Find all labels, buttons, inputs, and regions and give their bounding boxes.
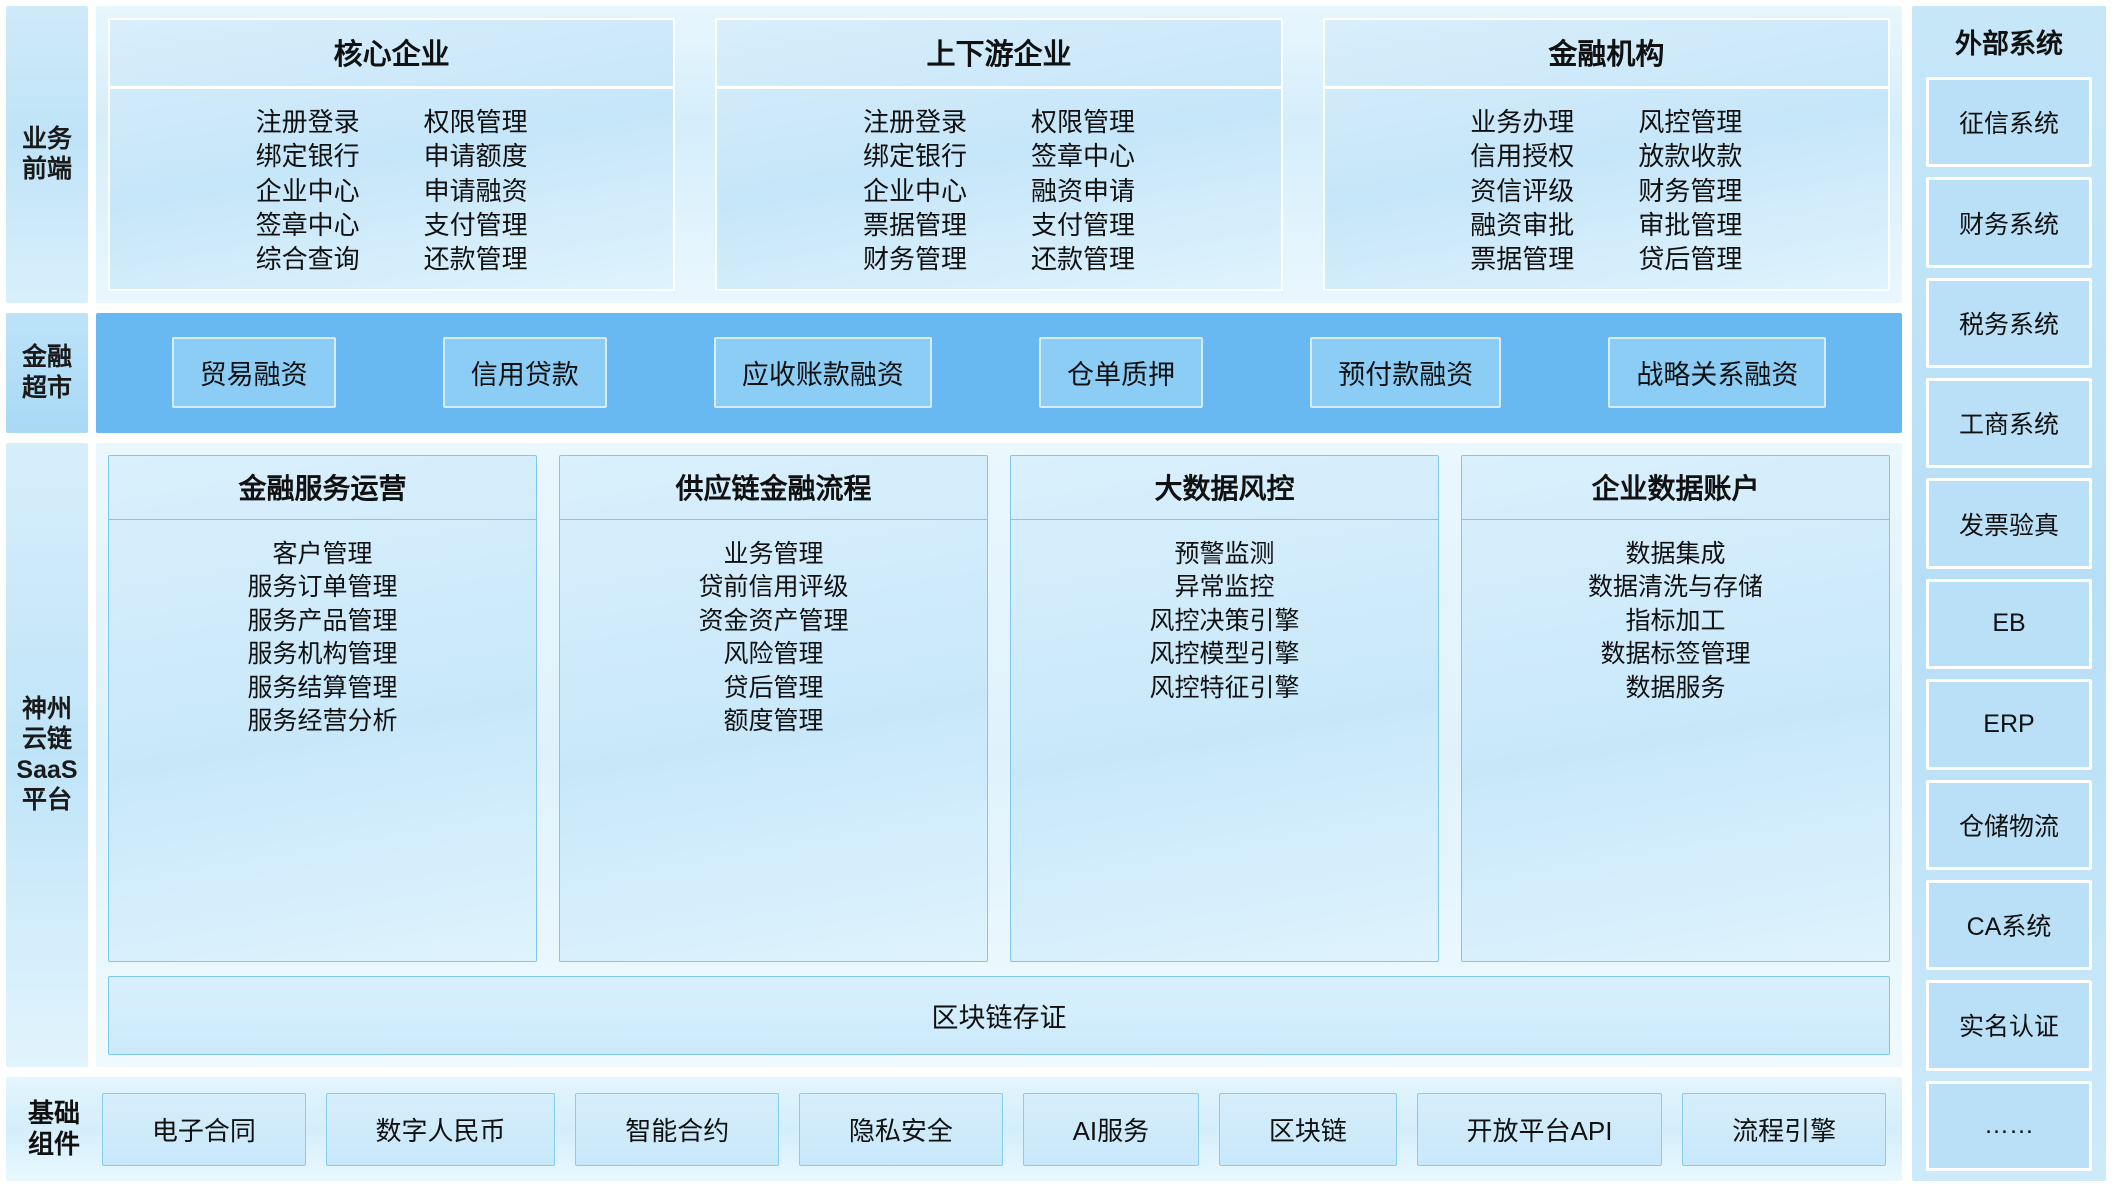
layer-label-base-components: 基础 组件 xyxy=(22,1098,86,1160)
saas-card-supply-chain-finance-process[interactable]: 供应链金融流程 业务管理 贷前信用评级 资金资产管理 风险管理 贷后管理 额度管… xyxy=(559,455,988,962)
feature-item[interactable]: 票据管理 xyxy=(1470,242,1574,276)
module-item[interactable]: 数据服务 xyxy=(1625,672,1725,706)
feature-item[interactable]: 签章中心 xyxy=(1031,139,1135,173)
external-system-item[interactable]: ERP xyxy=(1926,679,2092,769)
feature-item[interactable]: 注册登录 xyxy=(863,105,967,139)
external-system-item[interactable]: 仓储物流 xyxy=(1926,780,2092,870)
base-component-chip[interactable]: 数字人民币 xyxy=(326,1093,556,1166)
base-component-chip[interactable]: 区块链 xyxy=(1219,1093,1397,1166)
base-component-chip[interactable]: 开放平台API xyxy=(1417,1093,1663,1166)
layer-label-financial-market: 金融 超市 xyxy=(6,313,88,433)
layer-label-line-2: 前端 xyxy=(22,154,72,185)
module-item[interactable]: 风控模型引擎 xyxy=(1149,638,1299,672)
module-item[interactable]: 服务产品管理 xyxy=(247,605,397,639)
feature-item[interactable]: 放款收款 xyxy=(1638,139,1742,173)
module-item[interactable]: 风险管理 xyxy=(723,638,823,672)
module-item[interactable]: 风控决策引擎 xyxy=(1149,605,1299,639)
blockchain-evidence-bar[interactable]: 区块链存证 xyxy=(108,976,1890,1055)
feature-item[interactable]: 融资申请 xyxy=(1031,174,1135,208)
feature-item[interactable]: 企业中心 xyxy=(863,174,967,208)
module-item[interactable]: 资金资产管理 xyxy=(698,605,848,639)
feature-item[interactable]: 综合查询 xyxy=(256,242,360,276)
external-systems-panel: 外部系统 征信系统 财务系统 税务系统 工商系统 发票验真 EB ERP 仓储物… xyxy=(1912,6,2106,1181)
market-product-chip[interactable]: 信用贷款 xyxy=(443,337,607,408)
saas-card-financial-service-operation[interactable]: 金融服务运营 客户管理 服务订单管理 服务产品管理 服务机构管理 服务结算管理 … xyxy=(108,455,537,962)
card-title: 核心企业 xyxy=(110,20,673,89)
module-item[interactable]: 数据标签管理 xyxy=(1600,638,1750,672)
module-item[interactable]: 指标加工 xyxy=(1625,605,1725,639)
module-item[interactable]: 服务机构管理 xyxy=(247,638,397,672)
feature-item[interactable]: 支付管理 xyxy=(1031,208,1135,242)
layer-label-business-front-end: 业务 前端 xyxy=(6,6,88,303)
external-system-item[interactable]: 征信系统 xyxy=(1926,77,2092,167)
feature-item[interactable]: 信用授权 xyxy=(1470,139,1574,173)
module-item[interactable]: 风控特征引擎 xyxy=(1149,672,1299,706)
layer-label-line-4: 平台 xyxy=(16,785,77,816)
feature-item[interactable]: 财务管理 xyxy=(863,242,967,276)
feature-item[interactable]: 申请额度 xyxy=(424,139,528,173)
module-item[interactable]: 异常监控 xyxy=(1174,571,1274,605)
layer-label-line-1: 业务 xyxy=(22,124,72,155)
module-item[interactable]: 数据清洗与存储 xyxy=(1588,571,1763,605)
external-system-item[interactable]: 工商系统 xyxy=(1926,378,2092,468)
card-title: 金融机构 xyxy=(1325,20,1888,89)
feature-item[interactable]: 还款管理 xyxy=(424,242,528,276)
saas-card-big-data-risk-control[interactable]: 大数据风控 预警监测 异常监控 风控决策引擎 风控模型引擎 风控特征引擎 xyxy=(1010,455,1439,962)
business-front-end-body: 核心企业 注册登录 绑定银行 企业中心 签章中心 综合查询 权限管理 xyxy=(96,6,1902,303)
feature-item[interactable]: 绑定银行 xyxy=(863,139,967,173)
external-system-item[interactable]: CA系统 xyxy=(1926,880,2092,970)
base-component-chip[interactable]: AI服务 xyxy=(1023,1093,1199,1166)
module-item[interactable]: 贷前信用评级 xyxy=(698,571,848,605)
layer-label-line-2: 云链 xyxy=(16,724,77,755)
front-end-card-core-enterprise[interactable]: 核心企业 注册登录 绑定银行 企业中心 签章中心 综合查询 权限管理 xyxy=(108,18,675,291)
feature-item[interactable]: 票据管理 xyxy=(863,208,967,242)
card-title: 供应链金融流程 xyxy=(560,456,987,520)
market-product-chip[interactable]: 仓单质押 xyxy=(1039,337,1203,408)
saas-card-enterprise-data-account[interactable]: 企业数据账户 数据集成 数据清洗与存储 指标加工 数据标签管理 数据服务 xyxy=(1461,455,1890,962)
card-title: 大数据风控 xyxy=(1011,456,1438,520)
feature-item[interactable]: 支付管理 xyxy=(424,208,528,242)
market-product-chip[interactable]: 预付款融资 xyxy=(1310,337,1501,408)
feature-item[interactable]: 申请融资 xyxy=(424,174,528,208)
external-system-item[interactable]: EB xyxy=(1926,579,2092,669)
feature-item[interactable]: 审批管理 xyxy=(1638,208,1742,242)
financial-market-body: 贸易融资 信用贷款 应收账款融资 仓单质押 预付款融资 战略关系融资 xyxy=(96,313,1902,433)
feature-item[interactable]: 绑定银行 xyxy=(256,139,360,173)
base-component-chip[interactable]: 电子合同 xyxy=(102,1093,306,1166)
external-system-item[interactable]: 发票验真 xyxy=(1926,478,2092,568)
card-items: 预警监测 异常监控 风控决策引擎 风控模型引擎 风控特征引擎 xyxy=(1011,520,1438,961)
architecture-diagram: 业务 前端 核心企业 注册登录 绑定银行 企业中心 签章中心 xyxy=(0,0,2114,1187)
card-column-left: 注册登录 绑定银行 企业中心 签章中心 综合查询 xyxy=(256,105,360,277)
layer-label-line-2: 组件 xyxy=(28,1129,80,1160)
card-items: 业务管理 贷前信用评级 资金资产管理 风险管理 贷后管理 额度管理 xyxy=(560,520,987,961)
base-component-chip[interactable]: 隐私安全 xyxy=(799,1093,1003,1166)
layers-column: 业务 前端 核心企业 注册登录 绑定银行 企业中心 签章中心 xyxy=(6,6,1902,1181)
layer-label-line-3: SaaS xyxy=(16,755,77,786)
module-item[interactable]: 服务经营分析 xyxy=(247,705,397,739)
card-items: 数据集成 数据清洗与存储 指标加工 数据标签管理 数据服务 xyxy=(1462,520,1889,961)
card-column-left: 注册登录 绑定银行 企业中心 票据管理 财务管理 xyxy=(863,105,967,277)
saas-platform-body: 金融服务运营 客户管理 服务订单管理 服务产品管理 服务机构管理 服务结算管理 … xyxy=(96,443,1902,1067)
external-system-item[interactable]: …… xyxy=(1926,1081,2092,1171)
card-title: 上下游企业 xyxy=(717,20,1280,89)
base-component-chip[interactable]: 智能合约 xyxy=(575,1093,779,1166)
module-item[interactable]: 预警监测 xyxy=(1174,538,1274,572)
feature-item[interactable]: 还款管理 xyxy=(1031,242,1135,276)
external-systems-title: 外部系统 xyxy=(1926,14,2092,67)
card-column-right: 风控管理 放款收款 财务管理 审批管理 贷后管理 xyxy=(1638,105,1742,277)
layer-financial-market: 金融 超市 贸易融资 信用贷款 应收账款融资 仓单质押 预付款融资 战略关系融资 xyxy=(6,313,1902,433)
feature-item[interactable]: 财务管理 xyxy=(1638,174,1742,208)
module-item[interactable]: 服务订单管理 xyxy=(247,571,397,605)
front-end-card-upstream-downstream-enterprise[interactable]: 上下游企业 注册登录 绑定银行 企业中心 票据管理 财务管理 权限管理 xyxy=(715,18,1282,291)
front-end-card-financial-institution[interactable]: 金融机构 业务办理 信用授权 资信评级 融资审批 票据管理 风控管理 xyxy=(1323,18,1890,291)
feature-item[interactable]: 企业中心 xyxy=(256,174,360,208)
market-product-chip[interactable]: 应收账款融资 xyxy=(714,337,932,408)
feature-item[interactable]: 权限管理 xyxy=(1031,105,1135,139)
layer-label-line-2: 超市 xyxy=(22,373,72,404)
card-items: 客户管理 服务订单管理 服务产品管理 服务机构管理 服务结算管理 服务经营分析 xyxy=(109,520,536,961)
external-system-item[interactable]: 税务系统 xyxy=(1926,278,2092,368)
market-product-chip[interactable]: 战略关系融资 xyxy=(1608,337,1826,408)
card-column-right: 权限管理 申请额度 申请融资 支付管理 还款管理 xyxy=(424,105,528,277)
module-item[interactable]: 额度管理 xyxy=(723,705,823,739)
feature-item[interactable]: 融资审批 xyxy=(1470,208,1574,242)
layer-label-saas-platform: 神州 云链 SaaS 平台 xyxy=(6,443,88,1067)
layer-label-line-1: 神州 xyxy=(16,694,77,725)
module-item[interactable]: 服务结算管理 xyxy=(247,672,397,706)
module-item[interactable]: 客户管理 xyxy=(272,538,372,572)
external-system-item[interactable]: 实名认证 xyxy=(1926,980,2092,1070)
layer-label-line-1: 基础 xyxy=(28,1098,80,1129)
external-system-item[interactable]: 财务系统 xyxy=(1926,177,2092,267)
card-column-left: 业务办理 信用授权 资信评级 融资审批 票据管理 xyxy=(1470,105,1574,277)
base-component-chip[interactable]: 流程引擎 xyxy=(1682,1093,1886,1166)
feature-item[interactable]: 签章中心 xyxy=(256,208,360,242)
layer-base-components: 基础 组件 电子合同 数字人民币 智能合约 隐私安全 AI服务 区块链 开放平台… xyxy=(6,1077,1902,1181)
feature-item[interactable]: 业务办理 xyxy=(1470,105,1574,139)
layer-label-line-1: 金融 xyxy=(22,342,72,373)
base-component-chips: 电子合同 数字人民币 智能合约 隐私安全 AI服务 区块链 开放平台API 流程… xyxy=(102,1093,1886,1166)
feature-item[interactable]: 权限管理 xyxy=(424,105,528,139)
feature-item[interactable]: 资信评级 xyxy=(1470,174,1574,208)
module-item[interactable]: 业务管理 xyxy=(723,538,823,572)
module-item[interactable]: 贷后管理 xyxy=(723,672,823,706)
card-title: 金融服务运营 xyxy=(109,456,536,520)
layer-business-front-end: 业务 前端 核心企业 注册登录 绑定银行 企业中心 签章中心 xyxy=(6,6,1902,303)
feature-item[interactable]: 注册登录 xyxy=(256,105,360,139)
layer-saas-platform: 神州 云链 SaaS 平台 金融服务运营 客户管理 服务订单管理 服务产 xyxy=(6,443,1902,1067)
feature-item[interactable]: 贷后管理 xyxy=(1638,242,1742,276)
module-item[interactable]: 数据集成 xyxy=(1625,538,1725,572)
feature-item[interactable]: 风控管理 xyxy=(1638,105,1742,139)
card-column-right: 权限管理 签章中心 融资申请 支付管理 还款管理 xyxy=(1031,105,1135,277)
market-product-chip[interactable]: 贸易融资 xyxy=(172,337,336,408)
card-title: 企业数据账户 xyxy=(1462,456,1889,520)
